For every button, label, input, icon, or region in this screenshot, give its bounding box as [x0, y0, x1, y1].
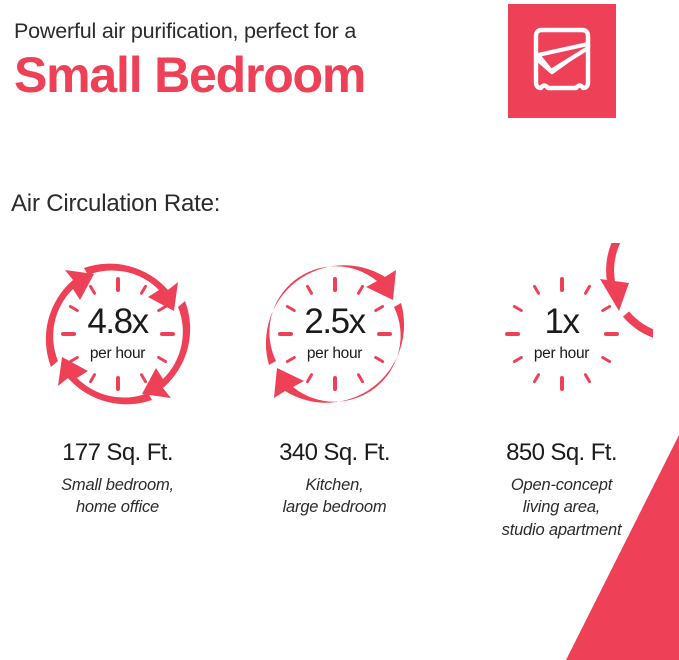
rate-card: 4.8x per hour 177 Sq. Ft. Small bedroom,…: [10, 243, 225, 541]
card-description-line: Small bedroom,: [61, 474, 174, 496]
dial-4-8x: 4.8x per hour: [27, 243, 209, 425]
card-description-line: large bedroom: [283, 496, 387, 518]
infographic-page: Powerful air purification, perfect for a…: [0, 0, 679, 660]
header-kicker: Powerful air purification, perfect for a: [14, 18, 514, 45]
bed-badge: [508, 4, 616, 118]
rate-card: 2.5x per hour 340 Sq. Ft. Kitchen, large…: [227, 243, 442, 541]
card-description-line: Kitchen,: [283, 474, 387, 496]
card-area: 177 Sq. Ft.: [62, 439, 173, 467]
section-label: Air Circulation Rate:: [11, 190, 220, 218]
card-description: Kitchen, large bedroom: [283, 474, 387, 519]
card-description: Small bedroom, home office: [61, 474, 174, 519]
page-title: Small Bedroom: [14, 47, 514, 103]
card-description-line: Open-concept: [502, 474, 622, 496]
dial-1x: 1x per hour: [471, 243, 653, 425]
card-description: Open-concept living area, studio apartme…: [502, 474, 622, 541]
header: Powerful air purification, perfect for a…: [14, 18, 514, 103]
card-area: 340 Sq. Ft.: [279, 439, 390, 467]
card-description-line: studio apartment: [502, 519, 622, 541]
card-area: 850 Sq. Ft.: [506, 439, 617, 467]
rate-card: 1x per hour 850 Sq. Ft. Open-concept liv…: [454, 243, 669, 541]
card-description-line: living area,: [502, 496, 622, 518]
rate-card-list: 4.8x per hour 177 Sq. Ft. Small bedroom,…: [0, 243, 679, 541]
dial-2-5x: 2.5x per hour: [244, 243, 426, 425]
card-description-line: home office: [61, 496, 174, 518]
